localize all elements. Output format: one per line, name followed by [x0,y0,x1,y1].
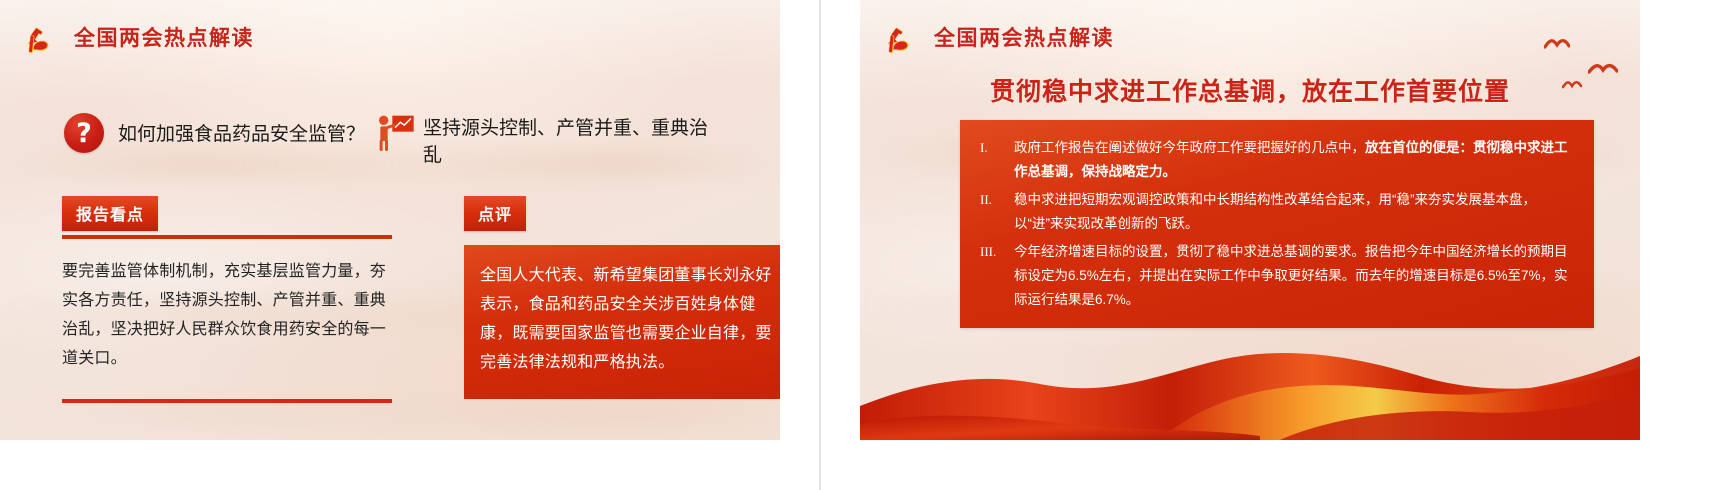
flying-birds-icon [1544,38,1570,57]
gutter-divider [819,0,821,490]
text-plain: 政府工作报告在阐述做好今年政府工作要把握好的几点中， [1014,140,1365,155]
header-title: 全国两会热点解读 [74,22,254,52]
column-report-highlights: 报告看点 要完善监管体制机制，充实基层监管力量，夯实各方责任，坚持源头控制、产管… [62,196,392,403]
slide-header: 全国两会热点解读 [18,16,254,58]
header-title: 全国两会热点解读 [934,22,1114,52]
party-emblem-icon [878,16,920,58]
content-columns: 报告看点 要完善监管体制机制，充实基层监管力量，夯实各方责任，坚持源头控制、产管… [62,196,740,403]
question-answer-row: ? 如何加强食品药品安全监管？ 坚持源头控制、产管并重、重典治乱 [64,112,740,170]
slide-right: 全国两会热点解读 贯彻稳中求进工作总基调，放在工作首要位置 I. 政府工作报告在… [860,0,1640,440]
tag-underline-rule [62,235,392,239]
key-points-list: I. 政府工作报告在阐述做好今年政府工作要把握好的几点中，放在首位的便是：贯彻稳… [974,136,1574,312]
right-padding [1640,0,1720,490]
party-emblem-icon [18,16,60,58]
list-item-text: 政府工作报告在阐述做好今年政府工作要把握好的几点中，放在首位的便是：贯彻稳中求进… [1014,136,1574,184]
list-marker: II. [974,188,1014,211]
slide-left: 全国两会热点解读 ? 如何加强食品药品安全监管？ 坚持源头控制、产管并重、重典治… [0,0,780,440]
list-item: II. 稳中求进把短期宏观调控政策和中长期结构性改革结合起来，用“稳”来夯实发展… [974,188,1574,236]
list-item: III. 今年经济增速目标的设置，贯彻了稳中求进总基调的要求。报告把今年中国经济… [974,240,1574,312]
question-mark-icon: ? [64,113,104,153]
tag-spacer [464,235,780,239]
list-marker: III. [974,240,1014,263]
tag-report-highlights: 报告看点 [62,196,158,231]
tag-commentary: 点评 [464,196,526,231]
list-item: I. 政府工作报告在阐述做好今年政府工作要把握好的几点中，放在首位的便是：贯彻稳… [974,136,1574,184]
key-points-panel: I. 政府工作报告在阐述做好今年政府工作要把握好的几点中，放在首位的便是：贯彻稳… [960,120,1594,328]
list-marker: I. [974,136,1014,159]
answer-text: 坚持源头控制、产管并重、重典治乱 [423,116,713,170]
question-text: 如何加强食品药品安全监管？ [118,119,365,146]
column-commentary: 点评 全国人大代表、新希望集团董事长刘永好表示，食品和药品安全关涉百姓身体健康，… [464,196,780,403]
presenter-board-icon [375,114,415,152]
commentary-text: 全国人大代表、新希望集团董事长刘永好表示，食品和药品安全关涉百姓身体健康，既需要… [464,245,780,399]
list-item-text: 稳中求进把短期宏观调控政策和中长期结构性改革结合起来，用“稳”来夯实发展基本盘，… [1014,188,1574,236]
report-highlights-text: 要完善监管体制机制，充实基层监管力量，夯实各方责任，坚持源头控制、产管并重、重典… [62,257,392,373]
slide-header: 全国两会热点解读 [878,16,1114,58]
list-item-text: 今年经济增速目标的设置，贯彻了稳中求进总基调的要求。报告把今年中国经济增长的预期… [1014,240,1574,312]
column-bottom-bar [62,399,392,403]
slide-gutter [780,0,860,490]
page-title: 贯彻稳中求进工作总基调，放在工作首要位置 [860,72,1640,108]
two-slide-comparison-canvas: 全国两会热点解读 ? 如何加强食品药品安全监管？ 坚持源头控制、产管并重、重典治… [0,0,1720,490]
